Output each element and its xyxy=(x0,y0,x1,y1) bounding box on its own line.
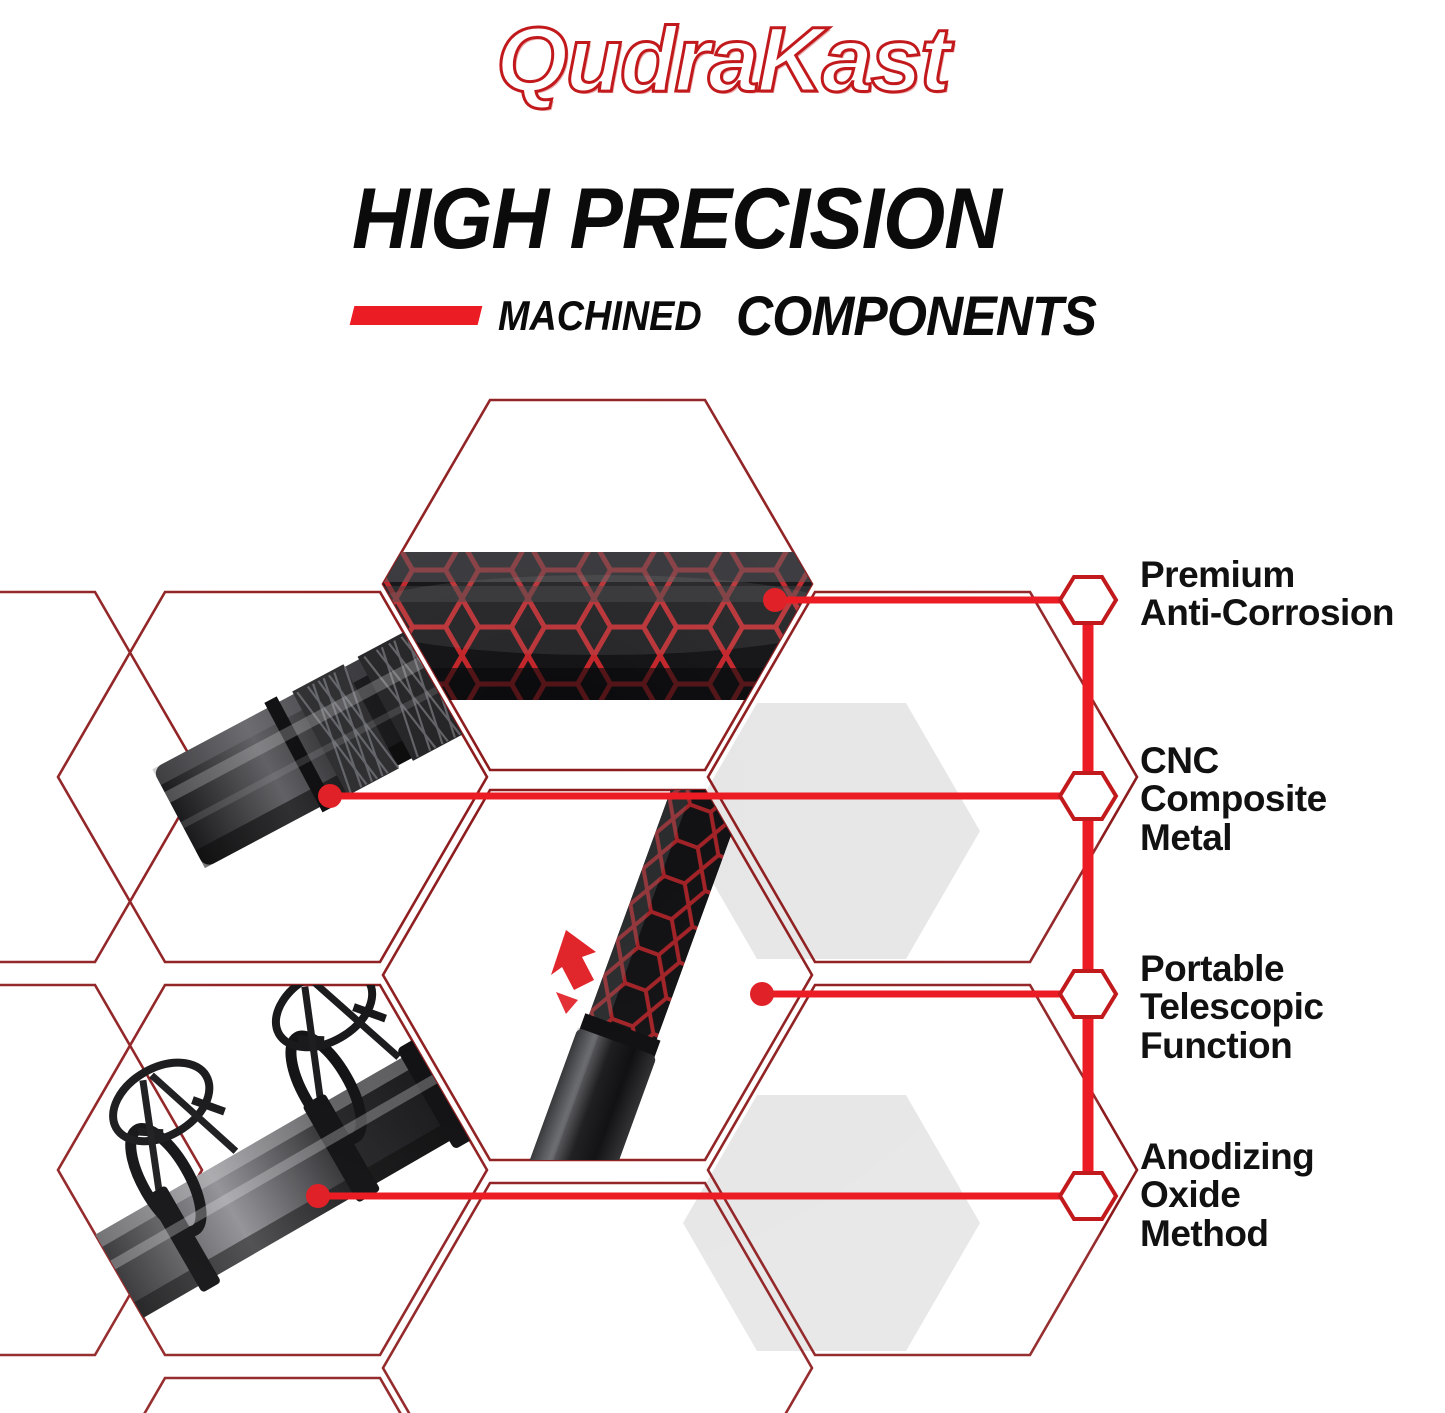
brand-logo: QudraKast xyxy=(0,14,1445,106)
callout-premium-anti-corrosion: Premium Anti-Corrosion xyxy=(1140,556,1394,633)
anchor-dot-3 xyxy=(306,1184,330,1208)
photo-vignette xyxy=(0,380,1100,1413)
anchor-dot-2 xyxy=(750,982,774,1006)
subtitle-machined: MACHINED xyxy=(498,292,702,340)
hexagon-node-3 xyxy=(1060,1173,1116,1219)
hexagon-node-0 xyxy=(1060,577,1116,623)
callout-anodizing-oxide-method: Anodizing Oxide Method xyxy=(1140,1138,1314,1253)
infographic-canvas: QudraKast HIGH PRECISION MACHINED COMPON… xyxy=(0,0,1445,1413)
callout-cnc-composite-metal: CNC Composite Metal xyxy=(1140,742,1327,857)
subtitle-components: COMPONENTS xyxy=(736,283,1096,348)
hexagon-node-2 xyxy=(1060,971,1116,1017)
callout-portable-telescopic-function: Portable Telescopic Function xyxy=(1140,950,1324,1065)
hexagon-node-1 xyxy=(1060,773,1116,819)
subtitle-row: MACHINED COMPONENTS xyxy=(352,283,1128,348)
page-title: HIGH PRECISION xyxy=(352,176,1001,262)
anchor-dot-1 xyxy=(318,784,342,808)
anchor-dot-0 xyxy=(763,588,787,612)
red-dash-accent xyxy=(350,306,483,325)
